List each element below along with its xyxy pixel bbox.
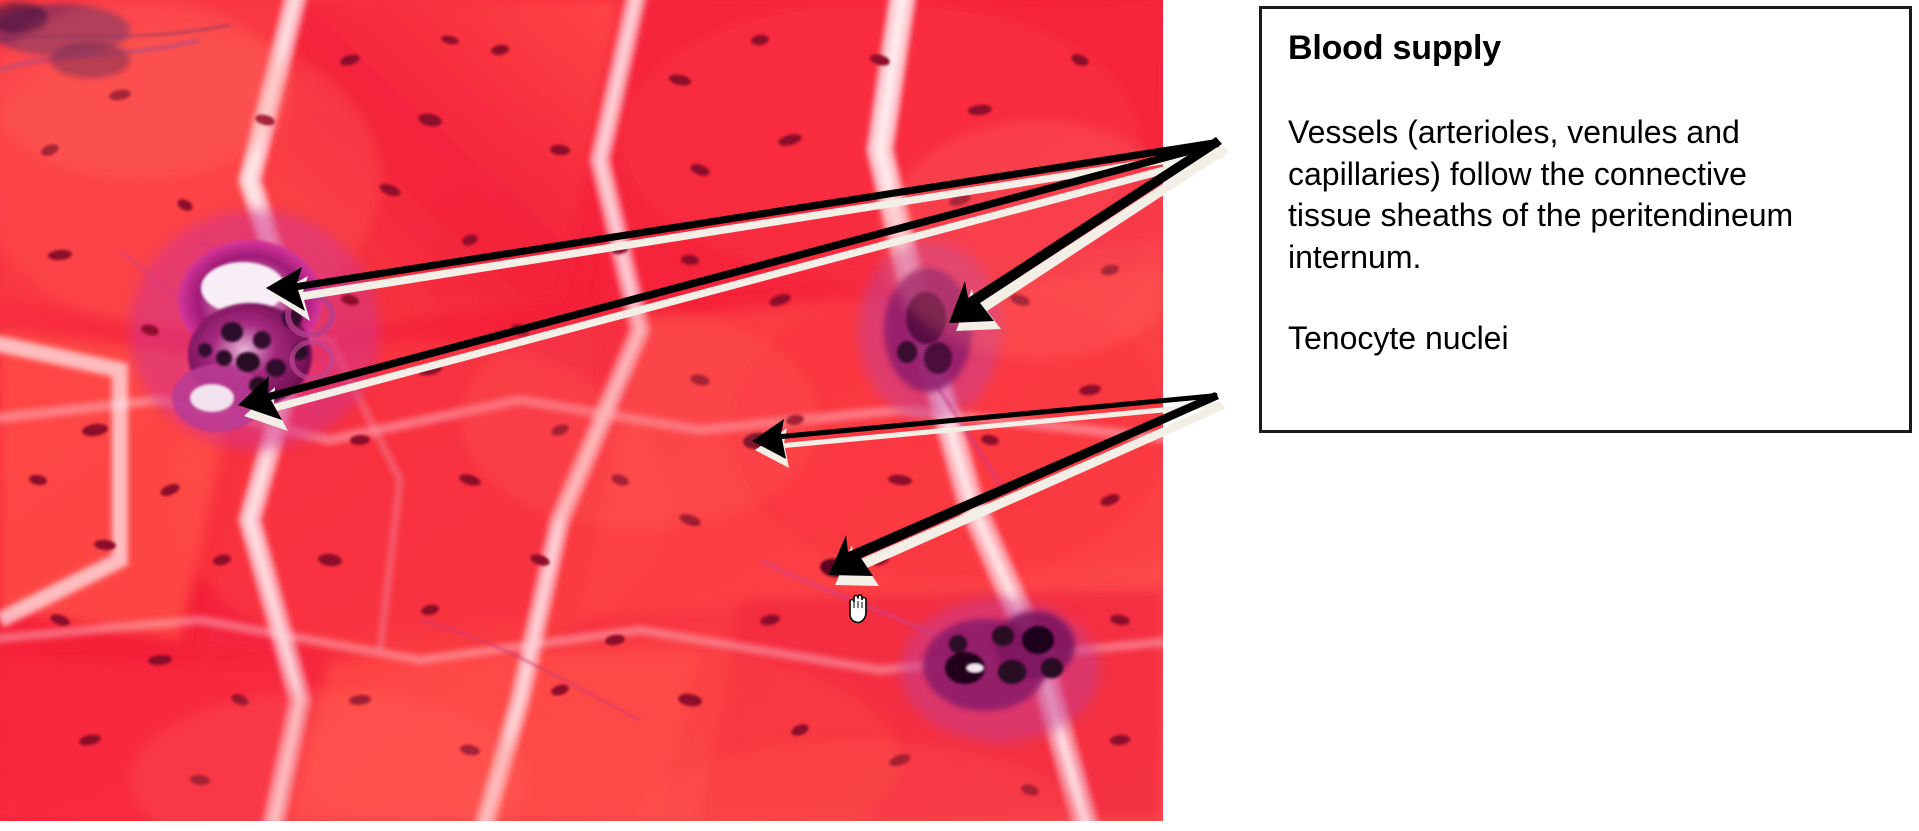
blood-vessel-large-left: [130, 210, 380, 450]
callout-gap-body: [1288, 278, 1883, 318]
histology-micrograph[interactable]: [0, 0, 1163, 821]
callout-secondary-text: Tenocyte nuclei: [1288, 318, 1883, 360]
callout-title: Blood supply: [1288, 29, 1883, 68]
blood-supply-callout-box[interactable]: Blood supply Vessels (arterioles, venule…: [1259, 6, 1912, 433]
histology-canvas: [0, 0, 1163, 821]
blood-vessel-lower-right: [900, 598, 1100, 742]
callout-body-text: Vessels (arterioles, venules and capilla…: [1288, 112, 1828, 278]
callout-gap-title: [1288, 68, 1883, 112]
